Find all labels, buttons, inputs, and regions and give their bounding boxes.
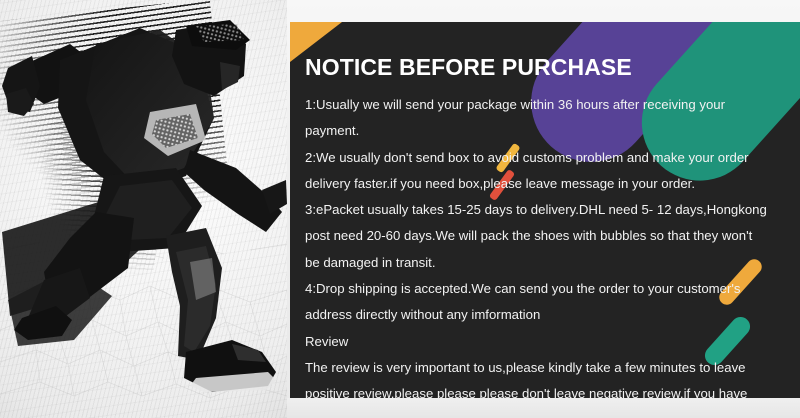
notice-line: 1:Usually we will send your package with… — [305, 92, 785, 118]
athlete-photo — [0, 0, 287, 418]
notice-line: The review is very important to us,pleas… — [305, 355, 785, 381]
notice-line: 4:Drop shipping is accepted.We can send … — [305, 276, 785, 302]
notice-line: 2:We usually don't send box to avoid cus… — [305, 145, 785, 171]
notice-line: address directly without any imformation — [305, 302, 785, 328]
notice-line: payment. — [305, 118, 785, 144]
notice-line: be damaged in transit. — [305, 250, 785, 276]
review-heading: Review — [305, 329, 785, 355]
page-title: NOTICE BEFORE PURCHASE — [305, 54, 632, 81]
notice-line: post need 20-60 days.We will pack the sh… — [305, 223, 785, 249]
bottom-strip — [287, 398, 800, 418]
notice-line: positive review.please please please don… — [305, 381, 785, 398]
notice-banner: NOTICE BEFORE PURCHASE 1:Usually we will… — [0, 0, 800, 418]
notice-line: delivery faster.if you need box,please l… — [305, 171, 785, 197]
notice-content: NOTICE BEFORE PURCHASE 1:Usually we will… — [290, 22, 800, 398]
notice-line: 3:ePacket usually takes 15-25 days to de… — [305, 197, 785, 223]
notice-panel: NOTICE BEFORE PURCHASE 1:Usually we will… — [290, 22, 800, 398]
notice-text-block: 1:Usually we will send your package with… — [305, 92, 785, 398]
photo-vignette — [0, 0, 287, 418]
